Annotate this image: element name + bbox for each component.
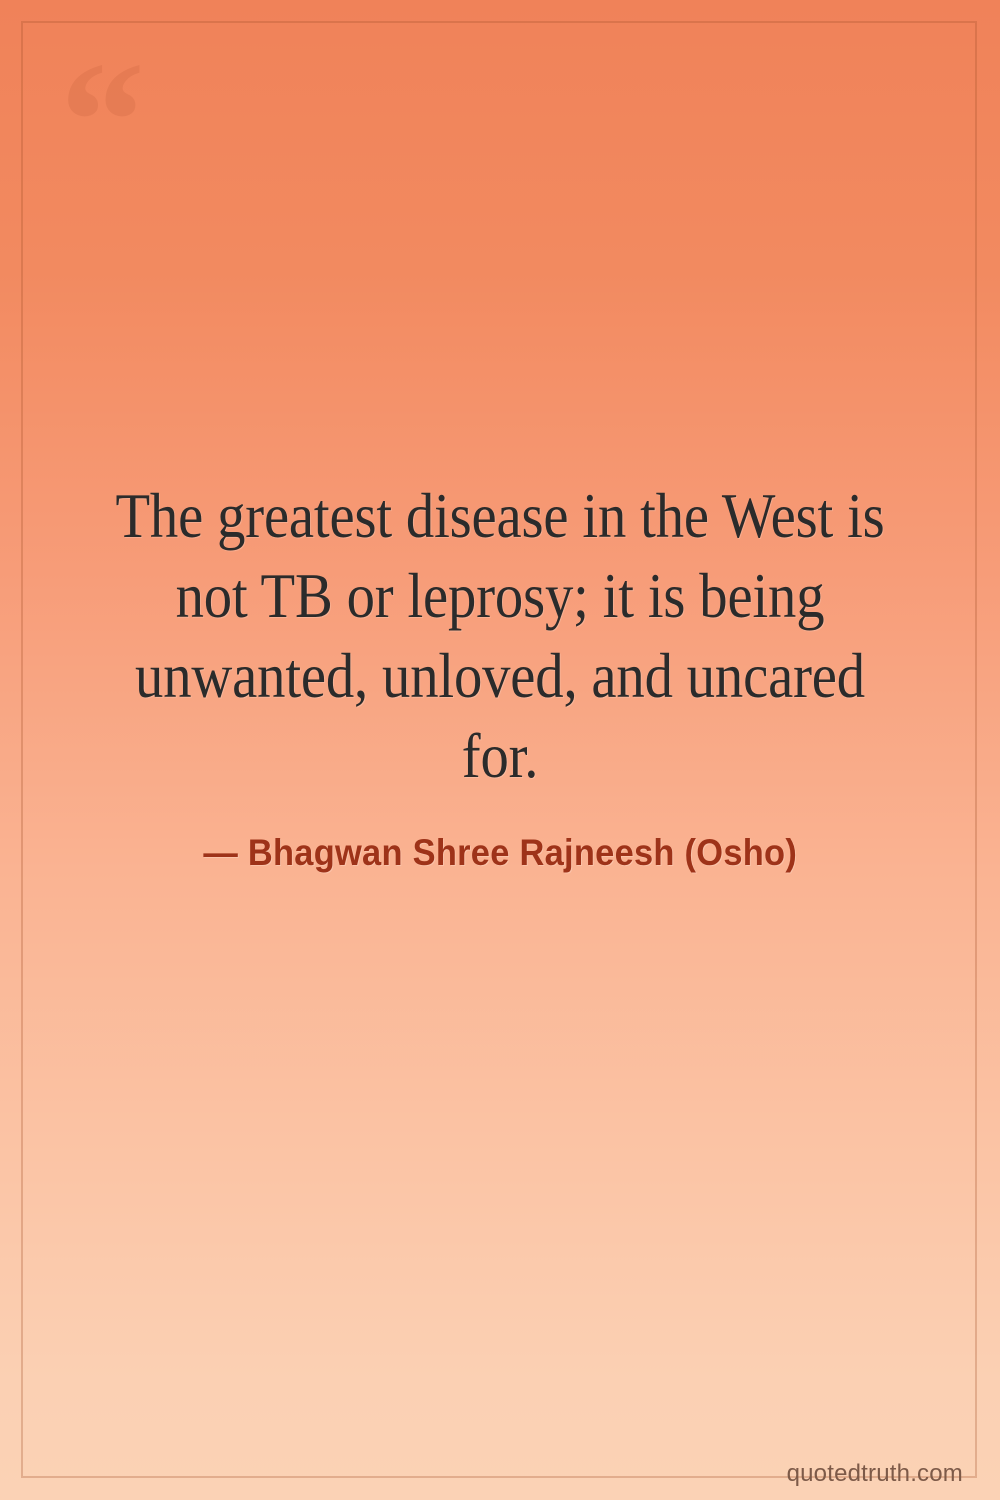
site-watermark: quotedtruth.com	[787, 1460, 963, 1488]
quote-text: The greatest disease in the West is not …	[113, 476, 887, 796]
quote-attribution: — Bhagwan Shree Rajneesh (Osho)	[203, 832, 797, 874]
quote-content-stack: The greatest disease in the West is not …	[0, 0, 1000, 1500]
quote-card: “ The greatest disease in the West is no…	[0, 0, 1000, 1500]
